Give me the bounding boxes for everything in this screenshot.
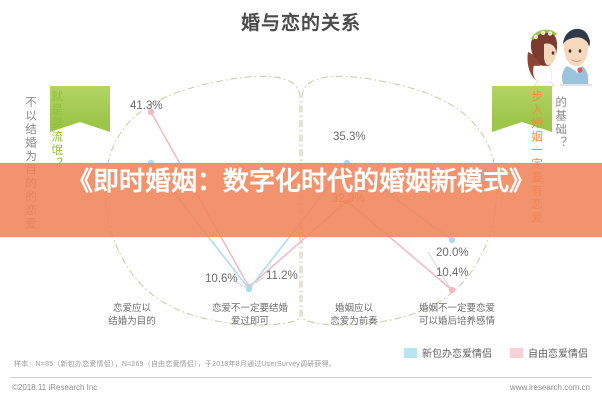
- category-label-4-line1: 婚姻不一定要恋爱: [404, 303, 510, 316]
- legend-swatch-blue: [404, 348, 417, 358]
- left-side-text-secondary: 就是耍流氓？: [48, 90, 63, 171]
- category-label-1: 恋爱应以 结婚为目的: [96, 303, 168, 329]
- website-link[interactable]: www.iresearch.com.cn: [510, 383, 590, 392]
- sample-footnote: 样本：N=85（新包办恋爱情侣），N=269（自由恋爱情侣），于2018年8月通…: [14, 359, 336, 369]
- right-side-text-secondary: 的基础？: [552, 96, 567, 150]
- legend-label-0: 新包办恋爱情侣: [422, 345, 492, 360]
- data-label-11-2: 11.2%: [266, 270, 298, 282]
- footer-divider: [10, 377, 592, 378]
- data-label-10-6: 10.6%: [205, 273, 238, 285]
- slide-root: 婚与恋的关系: [0, 0, 602, 400]
- overlay-banner-text: 《即时婚姻：数字化时代的婚姻新模式》: [0, 166, 602, 197]
- legend-label-1: 自由恋爱情侣: [528, 345, 588, 360]
- data-label-41-3: 41.3%: [130, 100, 163, 112]
- category-label-4-line2: 可以婚后培养感情: [404, 316, 510, 329]
- category-label-2: 恋爱不一定要结婚 爱过即可: [198, 303, 302, 329]
- legend-item-1: 自由恋爱情侣: [510, 345, 588, 360]
- category-label-3-line1: 婚姻应以: [318, 303, 390, 316]
- data-label-35-3: 35.3%: [333, 131, 366, 143]
- category-label-3-line2: 恋爱为前奏: [318, 316, 390, 329]
- category-label-4: 婚姻不一定要恋爱 可以婚后培养感情: [404, 303, 510, 329]
- data-label-10-4: 10.4%: [436, 267, 469, 279]
- category-label-1-line2: 结婚为目的: [96, 316, 168, 329]
- copyright-text: ©2018.11 iResearch Inc: [12, 383, 97, 392]
- category-label-3: 婚姻应以 恋爱为前奏: [318, 303, 390, 329]
- category-label-2-line1: 恋爱不一定要结婚: [198, 303, 302, 316]
- category-label-2-line2: 爱过即可: [198, 316, 302, 329]
- legend-swatch-pink: [510, 348, 523, 358]
- category-label-1-line1: 恋爱应以: [96, 303, 168, 316]
- chart-legend: 新包办恋爱情侣 自由恋爱情侣: [404, 345, 588, 360]
- data-label-20-0: 20.0%: [436, 247, 469, 259]
- legend-item-0: 新包办恋爱情侣: [404, 345, 492, 360]
